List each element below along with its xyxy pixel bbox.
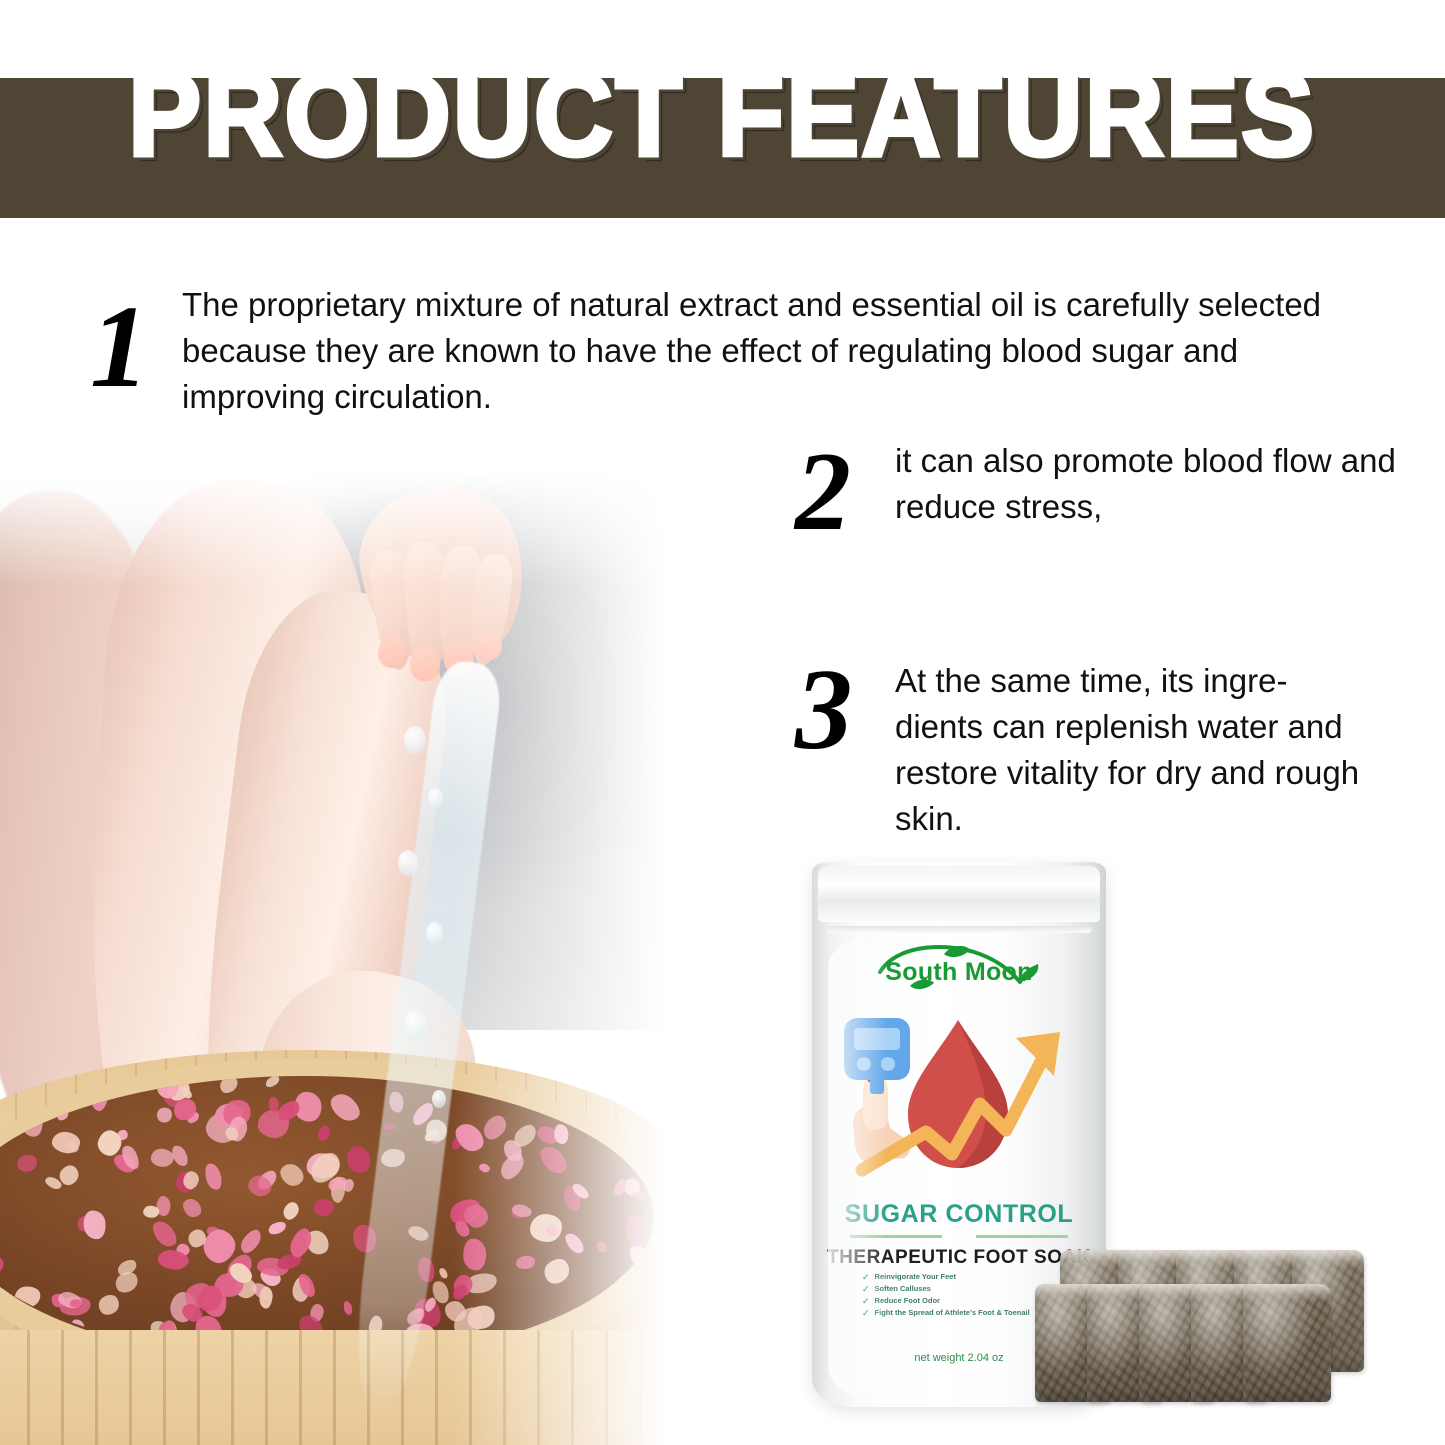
rose-petal: [267, 1220, 288, 1237]
feature-item-3: 3 At the same time, its ingre-dients can…: [795, 650, 1445, 842]
rose-petal: [478, 1162, 492, 1174]
rose-petal: [326, 1088, 365, 1126]
rose-petal: [15, 1154, 38, 1175]
rose-petal: [258, 1286, 273, 1309]
package-zip-seal: [818, 866, 1100, 922]
rose-petal: [156, 1106, 174, 1124]
feature-number-1: 1: [90, 288, 182, 406]
rose-petal: [344, 1143, 374, 1175]
rose-petal: [148, 1217, 181, 1251]
feature-item-2: 2 it can also promote blood flow and red…: [795, 432, 1445, 548]
rose-petal: [540, 1255, 575, 1289]
benefit-label: Reinvigorate Your Feet: [875, 1271, 956, 1283]
page-title: PRODUCT FEATURES: [58, 40, 1387, 205]
brand-name: South Moon: [812, 958, 1106, 987]
water-droplet: [404, 726, 426, 754]
page-title-text: PRODUCT FEATURES: [128, 40, 1316, 190]
rose-petal: [497, 1150, 529, 1184]
basin-front-wall: [0, 1330, 665, 1445]
rose-petal: [22, 1113, 43, 1137]
rose-petal: [595, 1240, 608, 1255]
package-zip-line: [826, 926, 1092, 933]
rose-petal: [264, 1076, 281, 1090]
check-icon: ✓: [862, 1307, 870, 1319]
feature-text-3: At the same time, its ingre-dients can r…: [895, 658, 1375, 842]
rose-petal: [237, 1226, 265, 1256]
rose-petal: [179, 1195, 205, 1221]
feature-text-2: it can also promote blood flow and reduc…: [895, 438, 1425, 530]
fingernail-1: [378, 636, 406, 668]
water-droplet: [404, 1010, 427, 1039]
glucose-meter-icon: [844, 1018, 910, 1094]
blood-sugar-graphic: [830, 1012, 1088, 1197]
rose-petal: [94, 1291, 123, 1319]
rose-petal: [82, 1209, 108, 1241]
rose-petal: [315, 1124, 332, 1143]
rose-petal: [314, 1199, 335, 1217]
rose-petal: [343, 1301, 354, 1316]
brand-logo: South Moon: [812, 958, 1106, 987]
rose-petal: [562, 1230, 587, 1256]
feature-number-2: 2: [795, 436, 895, 548]
rose-petal: [553, 1123, 569, 1144]
rose-petal: [450, 1119, 488, 1157]
tea-bag-sachets: [1035, 1240, 1445, 1440]
rose-petal: [277, 1160, 308, 1190]
rose-petal: [480, 1111, 512, 1143]
check-icon: ✓: [862, 1295, 870, 1307]
rose-petal: [632, 1191, 645, 1200]
rose-petal: [438, 1266, 449, 1279]
water-droplet: [428, 788, 443, 808]
sachet-front: [1243, 1284, 1331, 1402]
package-divider: [812, 1235, 1106, 1238]
feature-text-1: The proprietary mixture of natural extra…: [182, 282, 1347, 420]
fingernail-4: [476, 630, 502, 660]
fingernail-2: [410, 648, 440, 681]
foot-bath-photo: [0, 470, 665, 1445]
rose-petal: [463, 1238, 487, 1271]
benefit-label: Reduce Foot Odor: [875, 1295, 940, 1307]
check-icon: ✓: [862, 1271, 870, 1283]
rose-petal: [216, 1076, 241, 1097]
rose-petal: [623, 1214, 649, 1250]
feature-item-1: 1 The proprietary mixture of natural ext…: [90, 282, 1390, 420]
rose-petal: [203, 1162, 224, 1192]
divider-right: [976, 1235, 1068, 1238]
water-droplet: [426, 922, 443, 944]
water-droplet: [398, 850, 418, 876]
rose-petal: [281, 1199, 302, 1221]
feature-number-3: 3: [795, 652, 895, 767]
check-icon: ✓: [862, 1283, 870, 1295]
rose-petal: [536, 1142, 572, 1178]
rose-petal: [515, 1255, 535, 1270]
rose-petal: [0, 1253, 7, 1275]
package-product-name: SUGAR CONTROL: [812, 1200, 1106, 1229]
benefit-label: Soften Calluses: [875, 1283, 931, 1295]
rose-petal: [143, 1206, 160, 1219]
benefit-label: Fight the Spread of Athlete's Foot & Toe…: [875, 1307, 1030, 1319]
product-features-infographic: PRODUCT FEATURES 1 The proprietary mixtu…: [0, 0, 1445, 1445]
water-droplet: [432, 1090, 446, 1108]
rose-petal: [150, 1148, 174, 1167]
divider-left: [850, 1235, 942, 1238]
